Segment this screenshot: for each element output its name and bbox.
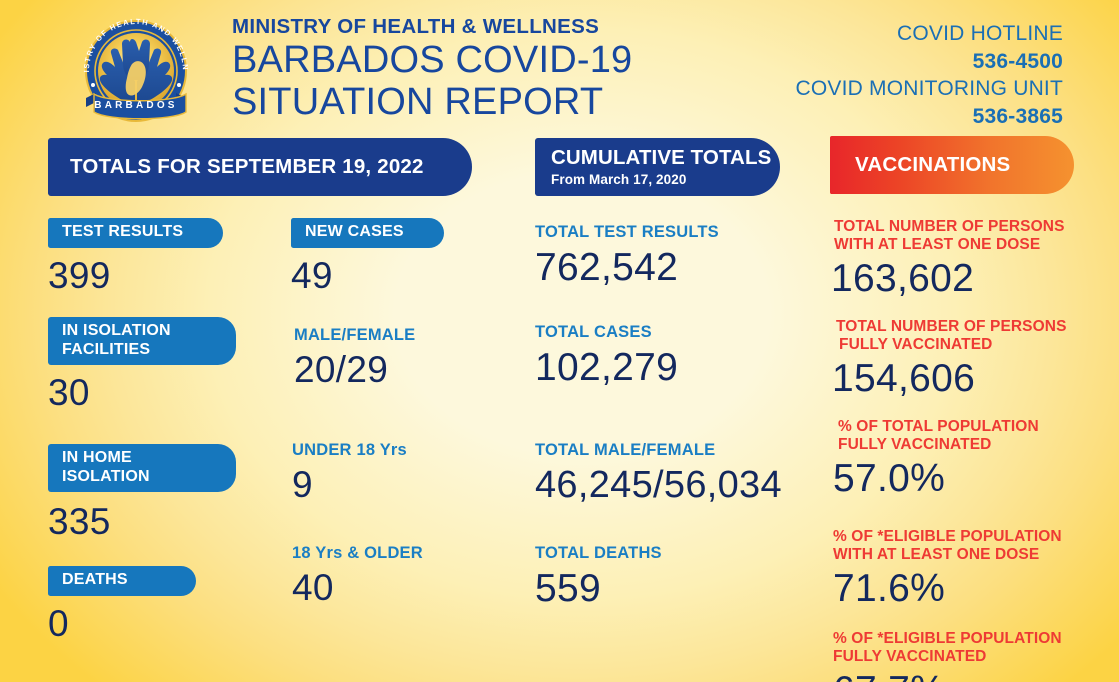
label-line-1: % OF TOTAL POPULATION: [838, 418, 1039, 436]
stat-value-total-cases: 102,279: [535, 348, 678, 387]
stat-label-pct-eligible-fully-vaccinated: % OF *ELIGIBLE POPULATION FULLY VACCINAT…: [833, 630, 1062, 666]
stat-value-total-male-female: 46,245/56,034: [535, 466, 782, 504]
label-line-2: FULLY VACCINATED: [836, 336, 1067, 354]
banner-vaccinations: VACCINATIONS: [830, 136, 1074, 194]
stat-label-test-results: TEST RESULTS: [48, 218, 223, 248]
stat-total-test-results: TOTAL TEST RESULTS 762,542: [535, 223, 719, 287]
covid-hotline-label: COVID HOTLINE: [796, 20, 1063, 48]
report-title-line2: SITUATION REPORT: [232, 82, 792, 123]
stat-label-in-isolation-facilities: IN ISOLATION FACILITIES: [48, 317, 236, 365]
stat-total-male-female: TOTAL MALE/FEMALE 46,245/56,034: [535, 441, 782, 504]
banner-cumulative-label: CUMULATIVE TOTALS: [551, 147, 780, 170]
stat-value-pct-eligible-at-least-one-dose: 71.6%: [833, 569, 1062, 608]
banner-daily-label: TOTALS FOR SEPTEMBER 19, 2022: [70, 155, 472, 179]
report-title-line1: BARBADOS COVID-19: [232, 40, 792, 81]
monitoring-unit-number[interactable]: 536-3865: [796, 103, 1063, 131]
stat-value-fully-vaccinated-count: 154,606: [832, 359, 1067, 398]
stat-label-total-deaths: TOTAL DEATHS: [535, 544, 662, 563]
barbados-seal-icon: MINISTRY OF HEALTH AND WELLNESS BARBADOS: [72, 12, 208, 130]
stat-label-under-18: UNDER 18 Yrs: [292, 441, 407, 460]
svg-text:BARBADOS: BARBADOS: [94, 100, 177, 111]
banner-cumulative-sublabel: From March 17, 2020: [551, 172, 780, 187]
report-header: MINISTRY OF HEALTH AND WELLNESS BARBADOS: [0, 0, 1119, 132]
stat-label-deaths: DEATHS: [48, 566, 196, 596]
stat-in-home-isolation: IN HOME ISOLATION 335: [48, 444, 236, 540]
stat-value-male-female: 20/29: [294, 351, 415, 388]
label-line-1: % OF *ELIGIBLE POPULATION: [833, 630, 1062, 648]
stat-value-total-deaths: 559: [535, 569, 662, 608]
stat-label-18-and-older: 18 Yrs & OLDER: [292, 544, 423, 563]
stat-total-cases: TOTAL CASES 102,279: [535, 323, 678, 387]
stat-value-new-cases: 49: [291, 257, 444, 294]
stat-label-male-female: MALE/FEMALE: [294, 326, 415, 345]
stat-value-in-isolation-facilities: 30: [48, 374, 236, 411]
stat-label-total-male-female: TOTAL MALE/FEMALE: [535, 441, 782, 460]
label-line-1: % OF *ELIGIBLE POPULATION: [833, 528, 1062, 546]
ministry-logo: MINISTRY OF HEALTH AND WELLNESS BARBADOS: [72, 12, 208, 130]
stat-label-pct-total-population-fully-vaccinated: % OF TOTAL POPULATION FULLY VACCINATED: [838, 418, 1039, 454]
label-line-2: FULLY VACCINATED: [838, 436, 1039, 454]
stat-under-18: UNDER 18 Yrs 9: [292, 441, 407, 503]
stat-pct-eligible-fully-vaccinated: % OF *ELIGIBLE POPULATION FULLY VACCINAT…: [833, 630, 1062, 682]
stat-label-total-cases: TOTAL CASES: [535, 323, 678, 342]
stat-label-total-test-results: TOTAL TEST RESULTS: [535, 223, 719, 242]
stat-in-isolation-facilities: IN ISOLATION FACILITIES 30: [48, 317, 236, 411]
banner-daily-totals: TOTALS FOR SEPTEMBER 19, 2022: [48, 138, 472, 196]
title-block: MINISTRY OF HEALTH & WELLNESS BARBADOS C…: [232, 16, 792, 123]
stat-test-results: TEST RESULTS 399: [48, 218, 223, 294]
stat-value-deaths: 0: [48, 605, 196, 642]
stat-new-cases: NEW CASES 49: [291, 218, 444, 294]
banner-cumulative-totals: CUMULATIVE TOTALS From March 17, 2020: [535, 138, 780, 196]
stat-value-pct-eligible-fully-vaccinated: 67.7%: [833, 671, 1062, 682]
label-line-2: ISOLATION: [62, 468, 150, 485]
stat-male-female: MALE/FEMALE 20/29: [294, 326, 415, 388]
banner-vaccinations-label: VACCINATIONS: [855, 153, 1074, 177]
stat-total-deaths: TOTAL DEATHS 559: [535, 544, 662, 608]
label-line-2: FACILITIES: [62, 341, 150, 358]
stat-label-new-cases: NEW CASES: [291, 218, 444, 248]
stat-label-in-home-isolation: IN HOME ISOLATION: [48, 444, 236, 492]
label-line-1: IN HOME: [62, 449, 132, 466]
label-line-2: WITH AT LEAST ONE DOSE: [834, 236, 1065, 254]
covid-hotline-number[interactable]: 536-4500: [796, 48, 1063, 76]
stat-value-in-home-isolation: 335: [48, 503, 236, 540]
stat-label-fully-vaccinated-count: TOTAL NUMBER OF PERSONS FULLY VACCINATED: [836, 318, 1067, 354]
situation-report-page: MINISTRY OF HEALTH AND WELLNESS BARBADOS: [0, 0, 1119, 682]
ministry-name: MINISTRY OF HEALTH & WELLNESS: [232, 16, 792, 39]
hotline-block: COVID HOTLINE 536-4500 COVID MONITORING …: [796, 20, 1063, 131]
stat-value-total-test-results: 762,542: [535, 248, 719, 287]
label-line-1: TOTAL NUMBER OF PERSONS: [834, 218, 1065, 236]
stat-value-at-least-one-dose: 163,602: [831, 259, 1065, 298]
label-line-2: WITH AT LEAST ONE DOSE: [833, 546, 1062, 564]
stat-at-least-one-dose: TOTAL NUMBER OF PERSONS WITH AT LEAST ON…: [834, 218, 1065, 298]
stat-value-pct-total-population-fully-vaccinated: 57.0%: [833, 459, 1039, 498]
label-line-1: TOTAL NUMBER OF PERSONS: [836, 318, 1067, 336]
label-line-2: FULLY VACCINATED: [833, 648, 1062, 666]
label-line-1: IN ISOLATION: [62, 322, 171, 339]
stat-pct-total-population-fully-vaccinated: % OF TOTAL POPULATION FULLY VACCINATED 5…: [838, 418, 1039, 498]
stat-pct-eligible-at-least-one-dose: % OF *ELIGIBLE POPULATION WITH AT LEAST …: [833, 528, 1062, 608]
monitoring-unit-label: COVID MONITORING UNIT: [796, 75, 1063, 103]
stat-18-and-older: 18 Yrs & OLDER 40: [292, 544, 423, 606]
stat-value-18-and-older: 40: [292, 569, 423, 606]
stat-value-under-18: 9: [292, 466, 407, 503]
stat-fully-vaccinated-count: TOTAL NUMBER OF PERSONS FULLY VACCINATED…: [836, 318, 1067, 398]
stat-value-test-results: 399: [48, 257, 223, 294]
stat-label-at-least-one-dose: TOTAL NUMBER OF PERSONS WITH AT LEAST ON…: [834, 218, 1065, 254]
stat-deaths: DEATHS 0: [48, 566, 196, 642]
stat-label-pct-eligible-at-least-one-dose: % OF *ELIGIBLE POPULATION WITH AT LEAST …: [833, 528, 1062, 564]
